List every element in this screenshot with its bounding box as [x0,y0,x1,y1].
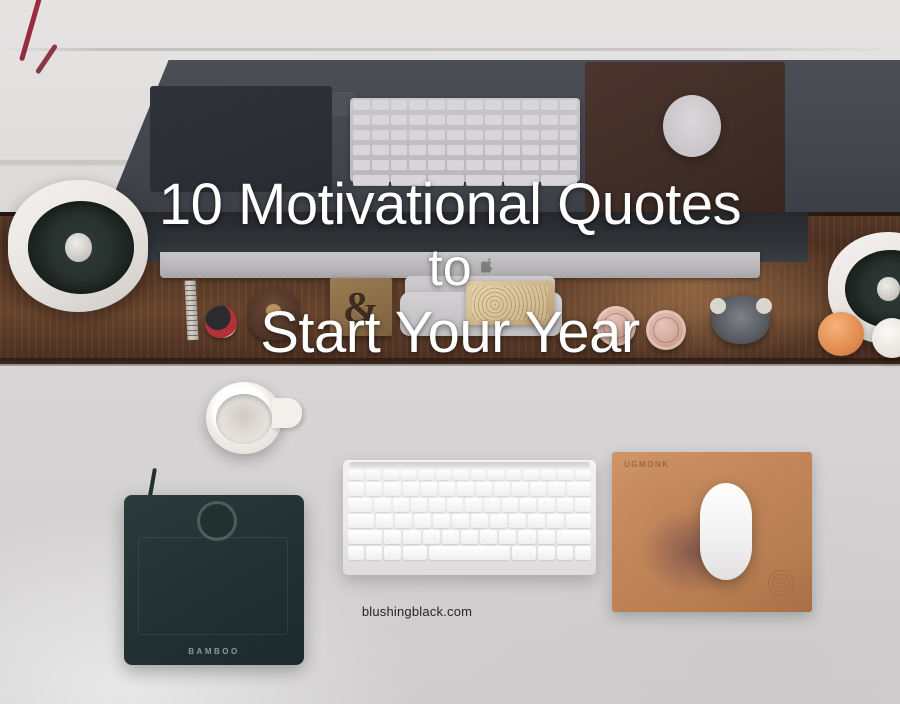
copper-coin-2 [646,310,686,350]
coffee-mug [206,382,282,454]
shelf-bottom-edge [0,358,900,366]
gorilla-figurine [712,296,770,344]
tablet-active-area [138,537,288,635]
wacom-tablet: BAMBOO [124,495,304,665]
keyboard-row-qwerty [348,498,591,512]
mousepad-swirl-logo [766,568,796,598]
red-figurine [205,306,237,338]
upper-keyboard [350,98,580,182]
watermark-credit: blushingblack.com [0,604,900,619]
imac-bezel-chin [160,252,760,278]
keyboard-row-shift [348,530,591,544]
keyboard-rows [348,470,591,562]
keyboard-row-space [348,546,591,560]
keyboard-top-bar [349,462,590,468]
letterpress-block: & [330,278,392,336]
left-speaker [8,180,148,312]
upper-dark-panel [150,86,332,192]
desk-photo-scene: & BAMBOO [0,0,900,704]
orange-ball-object [818,312,864,356]
brass-object [466,281,554,325]
bear-figurine [248,288,300,340]
tablet-brand-label: BAMBOO [124,647,304,656]
image-canvas: & BAMBOO [0,0,900,704]
left-speaker-dome [65,233,92,262]
coffee-mug-handle [272,398,302,428]
magic-mouse [700,483,752,580]
brass-object-texture [472,286,548,320]
keyboard-row-number [348,482,591,496]
keyboard-row-home [348,514,591,528]
tablet-touch-ring [197,501,237,541]
apple-keyboard [343,460,596,575]
letterpress-ampersand-glyph: & [330,278,392,336]
upper-mouse [663,95,721,157]
apple-logo-icon [481,258,494,273]
copper-coin-1 [596,306,636,346]
keyboard-row-function [348,470,591,480]
mousepad-brand-label: UGMONK [624,460,669,469]
wall-seam-upper [0,48,900,51]
